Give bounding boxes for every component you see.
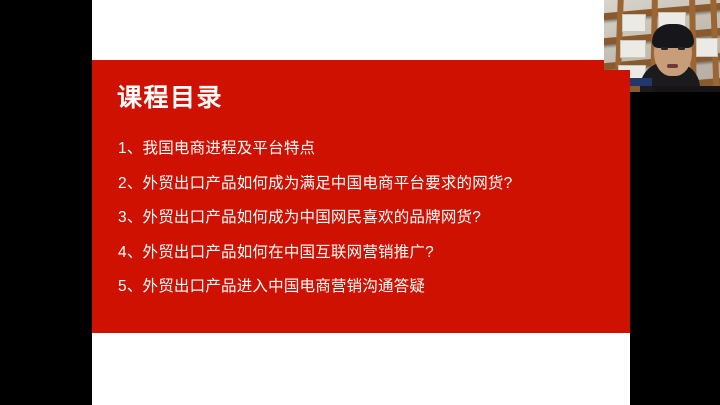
list-item: 2、外贸出口产品如何成为满足中国电商平台要求的网货? xyxy=(118,167,618,202)
shelf-box xyxy=(620,40,646,58)
table-of-contents-list: 1、我国电商进程及平台特点 2、外贸出口产品如何成为满足中国电商平台要求的网货?… xyxy=(118,132,618,305)
pillarbox-left xyxy=(0,0,92,405)
webcam-scene xyxy=(604,0,720,92)
slide-corner-accent xyxy=(630,78,652,86)
webcam-bottom-shade xyxy=(652,86,720,92)
webcam-video-overlay[interactable] xyxy=(604,0,720,92)
slide-corner-reflection xyxy=(604,70,630,92)
list-item: 4、外贸出口产品如何在中国互联网营销推广? xyxy=(118,236,618,271)
presenter-mouth xyxy=(667,64,678,68)
slide-red-panel: 课程目录 1、我国电商进程及平台特点 2、外贸出口产品如何成为满足中国电商平台要… xyxy=(92,60,630,333)
shelf-box xyxy=(696,38,718,57)
presenter-eye-right xyxy=(678,47,685,50)
screen-capture: 课程目录 1、我国电商进程及平台特点 2、外贸出口产品如何成为满足中国电商平台要… xyxy=(0,0,720,405)
list-item: 3、外贸出口产品如何成为中国网民喜欢的品牌网货? xyxy=(118,201,618,236)
list-item: 1、我国电商进程及平台特点 xyxy=(118,132,618,167)
presenter-hair xyxy=(652,24,694,48)
page-title: 课程目录 xyxy=(117,86,223,111)
slide-canvas: 课程目录 1、我国电商进程及平台特点 2、外贸出口产品如何成为满足中国电商平台要… xyxy=(92,0,630,405)
list-item: 5、外贸出口产品进入中国电商营销沟通答疑 xyxy=(118,270,618,305)
presenter-eye-left xyxy=(661,47,668,50)
shelf-box xyxy=(622,14,646,32)
